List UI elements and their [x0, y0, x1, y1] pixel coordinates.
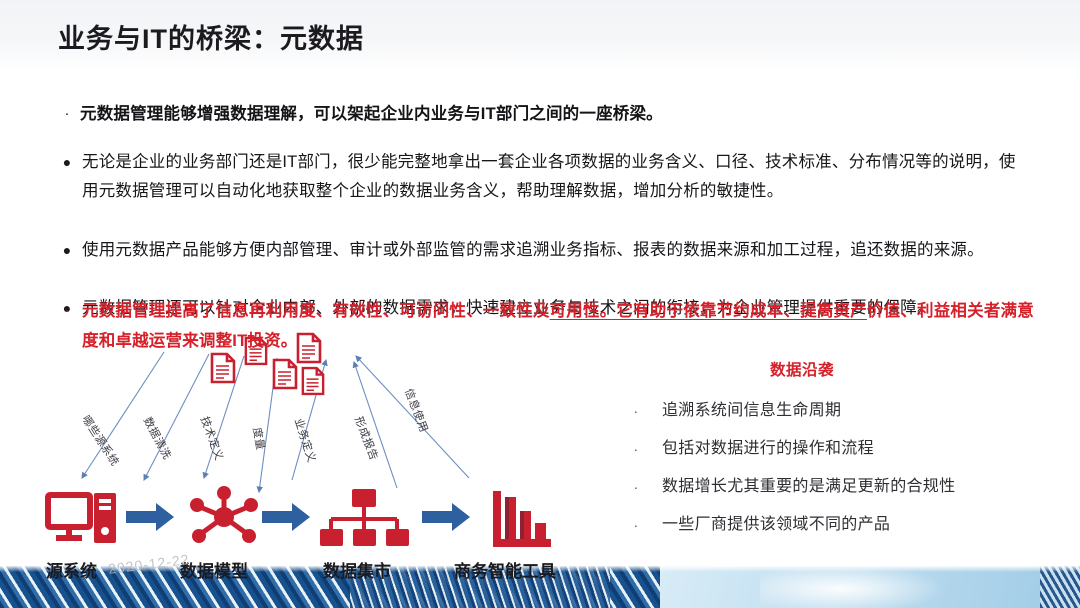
bullet-marker: ●: [56, 294, 78, 322]
list-item: · 一些厂商提供该领域不同的产品: [628, 506, 1048, 544]
bullet-dot-icon: ·: [628, 392, 644, 430]
flow-arrow-icon: [422, 503, 470, 531]
bullet-text: 无论是企业的业务部门还是IT部门，很少能完整地拿出一套企业各项数据的业务含义、口…: [82, 148, 1024, 206]
bullet-item-0: · 元数据管理能够增强数据理解，可以架起企业内业务与IT部门之间的一座桥梁。: [56, 102, 1036, 126]
list-item-label: 追溯系统间信息生命周期: [662, 392, 1048, 430]
network-hub-nodes: [190, 486, 258, 543]
bullet-dot-icon: ·: [628, 506, 644, 544]
document-icons-cluster: [210, 332, 360, 410]
bullet-item-3: ● 元数据管理还可以针对企业内部、外部的数据需求，快速建立业务与技术之间的衔接，…: [56, 294, 1024, 323]
right-bullet-list: · 追溯系统间信息生命周期 · 包括对数据进行的操作和流程 · 数据增长尤其重要…: [628, 392, 1048, 544]
bullet-dot-icon: ·: [628, 468, 644, 506]
bullet-text: 使用元数据产品能够方便内部管理、审计或外部监管的需求追溯业务指标、报表的数据来源…: [82, 236, 1024, 265]
list-item-label: 一些厂商提供该领域不同的产品: [662, 506, 1048, 544]
slide-root: 业务与IT的桥梁：元数据 · 元数据管理能够增强数据理解，可以架起企业内业务与I…: [0, 0, 1080, 608]
diagram-node-label: 商务智能工具: [454, 557, 556, 582]
bullet-text: 元数据管理能够增强数据理解，可以架起企业内业务与IT部门之间的一座桥梁。: [80, 102, 1036, 126]
bullet-marker: ●: [56, 236, 78, 264]
list-item-label: 数据增长尤其重要的是满足更新的合规性: [662, 468, 1048, 506]
bullet-marker: ●: [56, 148, 78, 176]
diagram-node-label: 数据模型: [180, 557, 248, 582]
bullet-item-1: ● 无论是企业的业务部门还是IT部门，很少能完整地拿出一套企业各项数据的业务含义…: [56, 148, 1024, 206]
list-item: · 追溯系统间信息生命周期: [628, 392, 1048, 430]
page-title: 业务与IT的桥梁：元数据: [58, 17, 364, 56]
document-icon: [272, 358, 298, 390]
bullet-item-2: ● 使用元数据产品能够方便内部管理、审计或外部监管的需求追溯业务指标、报表的数据…: [56, 236, 1024, 265]
flow-arrow-icon: [262, 503, 310, 531]
list-item: · 数据增长尤其重要的是满足更新的合规性: [628, 468, 1048, 506]
document-icon: [301, 366, 325, 396]
diagram-node-label: 数据集市: [323, 557, 391, 582]
list-item-label: 包括对数据进行的操作和流程: [662, 430, 1048, 468]
document-icon: [210, 352, 236, 384]
bullet-marker: ·: [56, 102, 78, 126]
sky-cloud: [760, 566, 960, 608]
document-icon: [244, 336, 268, 366]
org-tree-icon: [331, 507, 397, 529]
building-right-edge: [1040, 566, 1080, 608]
desktop-tower-icon: [48, 495, 90, 538]
list-item: · 包括对数据进行的操作和流程: [628, 430, 1048, 468]
document-icon: [296, 332, 322, 364]
bullet-text: 元数据管理还可以针对企业内部、外部的数据需求，快速建立业务与技术之间的衔接，为企…: [82, 294, 1024, 323]
diagram-node-label: 源系统: [46, 557, 97, 582]
flow-arrow-icon: [126, 503, 174, 531]
data-lineage-callout: 数据沿袭: [770, 358, 834, 380]
bullet-dot-icon: ·: [628, 430, 644, 468]
